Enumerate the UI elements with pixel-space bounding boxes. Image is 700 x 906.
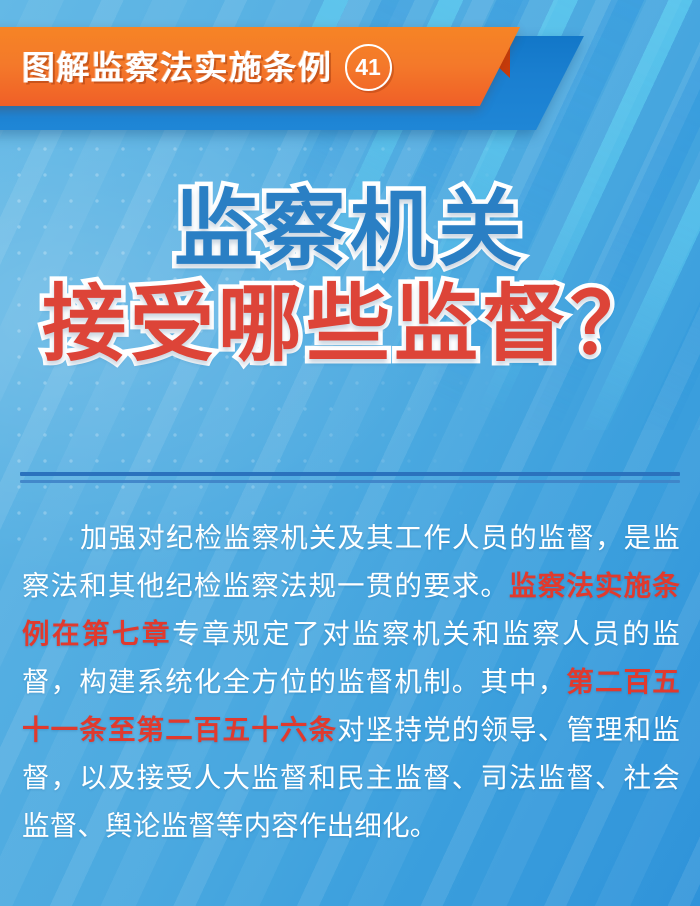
series-title: 图解监察法实施条例 bbox=[22, 51, 333, 84]
title-line-2: 接受哪些监督？ bbox=[0, 277, 700, 372]
divider-line-secondary bbox=[20, 480, 680, 483]
divider-line-primary bbox=[20, 472, 680, 476]
page-title: 监察机关 接受哪些监督？ bbox=[0, 182, 700, 372]
body-paragraph: 加强对纪检监察机关及其工作人员的监督，是监察法和其他纪检监察法规一贯的要求。监察… bbox=[22, 514, 680, 850]
header-ribbon: 图解监察法实施条例 41 bbox=[0, 0, 700, 140]
episode-number-badge: 41 bbox=[345, 44, 392, 91]
title-line-1: 监察机关 bbox=[0, 182, 700, 277]
divider bbox=[20, 472, 680, 483]
infographic-poster: 图解监察法实施条例 41 监察机关 接受哪些监督？ 加强对纪检监察机关及其工作人… bbox=[0, 0, 700, 906]
ribbon-content: 图解监察法实施条例 41 bbox=[22, 36, 482, 98]
